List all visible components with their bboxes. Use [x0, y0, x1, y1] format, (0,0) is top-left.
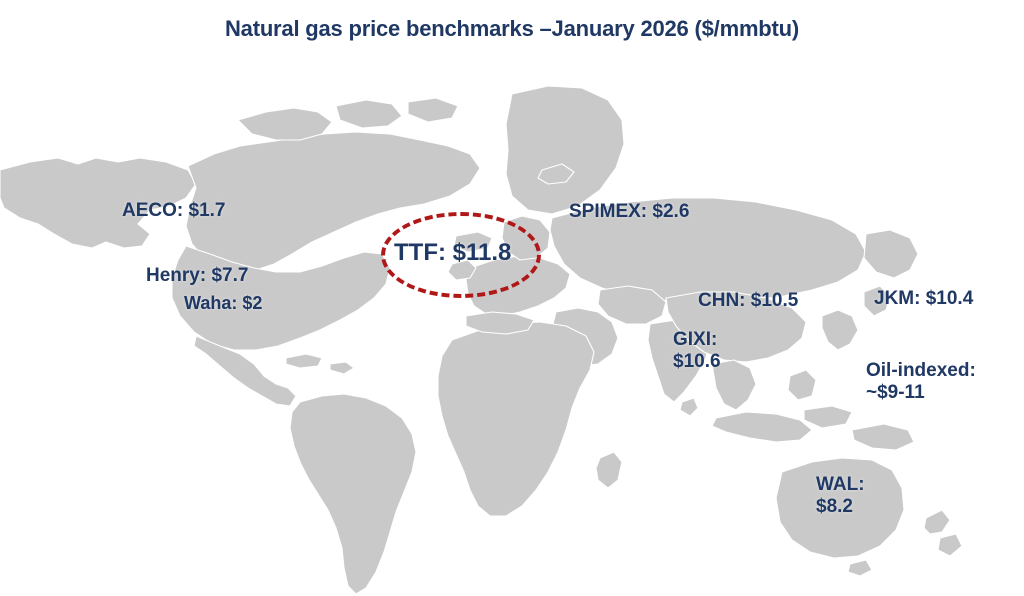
benchmark-label-oil-indexed-value: ~$9-11 — [866, 382, 976, 404]
slide-canvas: Natural gas price benchmarks –January 20… — [0, 0, 1024, 596]
benchmark-label-aeco: AECO: $1.7 — [122, 200, 225, 222]
benchmark-label-henry: Henry: $7.7 — [146, 265, 248, 287]
benchmark-label-gixi-value: $10.6 — [673, 351, 721, 373]
benchmark-label-wal-name: WAL: — [816, 474, 865, 496]
benchmark-label-spimex: SPIMEX: $2.6 — [569, 201, 689, 223]
page-title: Natural gas price benchmarks –January 20… — [0, 16, 1024, 42]
benchmark-label-wal: WAL: $8.2 — [816, 474, 865, 519]
benchmark-label-wal-value: $8.2 — [816, 496, 865, 518]
world-map-svg — [0, 58, 1024, 596]
benchmark-label-jkm: JKM: $10.4 — [874, 288, 973, 310]
benchmark-label-waha: Waha: $2 — [184, 293, 262, 314]
benchmark-label-gixi: GIXI: $10.6 — [673, 329, 721, 374]
benchmark-label-oil-indexed: Oil-indexed: ~$9-11 — [866, 360, 976, 405]
benchmark-label-chn: CHN: $10.5 — [698, 290, 798, 312]
world-map — [0, 58, 1024, 596]
benchmark-label-gixi-name: GIXI: — [673, 329, 721, 351]
benchmark-label-ttf: TTF: $11.8 — [394, 239, 511, 267]
benchmark-label-oil-indexed-name: Oil-indexed: — [866, 360, 976, 382]
